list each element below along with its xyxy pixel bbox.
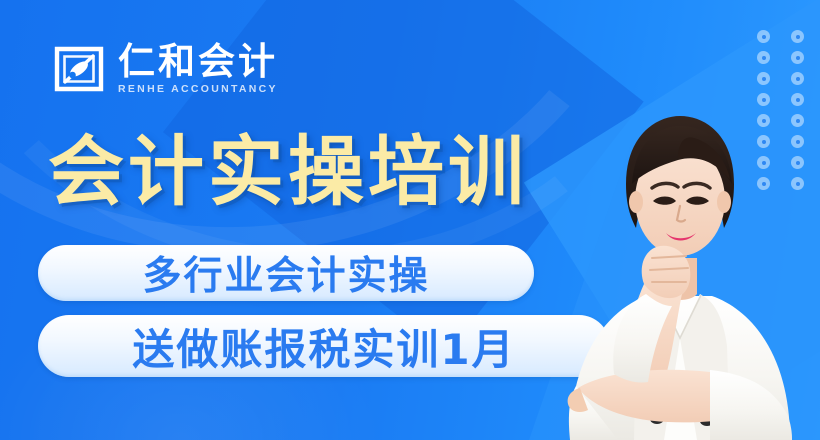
feature-pill-2[interactable]: 送做账报税实训1月 bbox=[38, 315, 610, 377]
feature-pill-1[interactable]: 多行业会计实操 bbox=[38, 245, 534, 301]
brand-logo-text: 仁和会计 RENHE ACCOUNTANCY bbox=[118, 43, 278, 96]
promo-banner: 仁和会计 RENHE ACCOUNTANCY 会计实操培训 多行业会计实操 送做… bbox=[0, 0, 820, 440]
headline-title: 会计实操培训 bbox=[48, 130, 528, 214]
decor-dot bbox=[757, 72, 770, 85]
renhe-square-mark-icon bbox=[52, 42, 106, 96]
decor-dot bbox=[791, 51, 804, 64]
decor-dot bbox=[791, 72, 804, 85]
decor-dot bbox=[757, 51, 770, 64]
brand-name-cn: 仁和会计 bbox=[118, 43, 278, 81]
brand-logo: 仁和会计 RENHE ACCOUNTANCY bbox=[52, 42, 278, 96]
decor-dot bbox=[791, 30, 804, 43]
presenter-photo bbox=[560, 88, 798, 440]
decor-dot bbox=[757, 30, 770, 43]
brand-name-en: RENHE ACCOUNTANCY bbox=[118, 83, 278, 95]
